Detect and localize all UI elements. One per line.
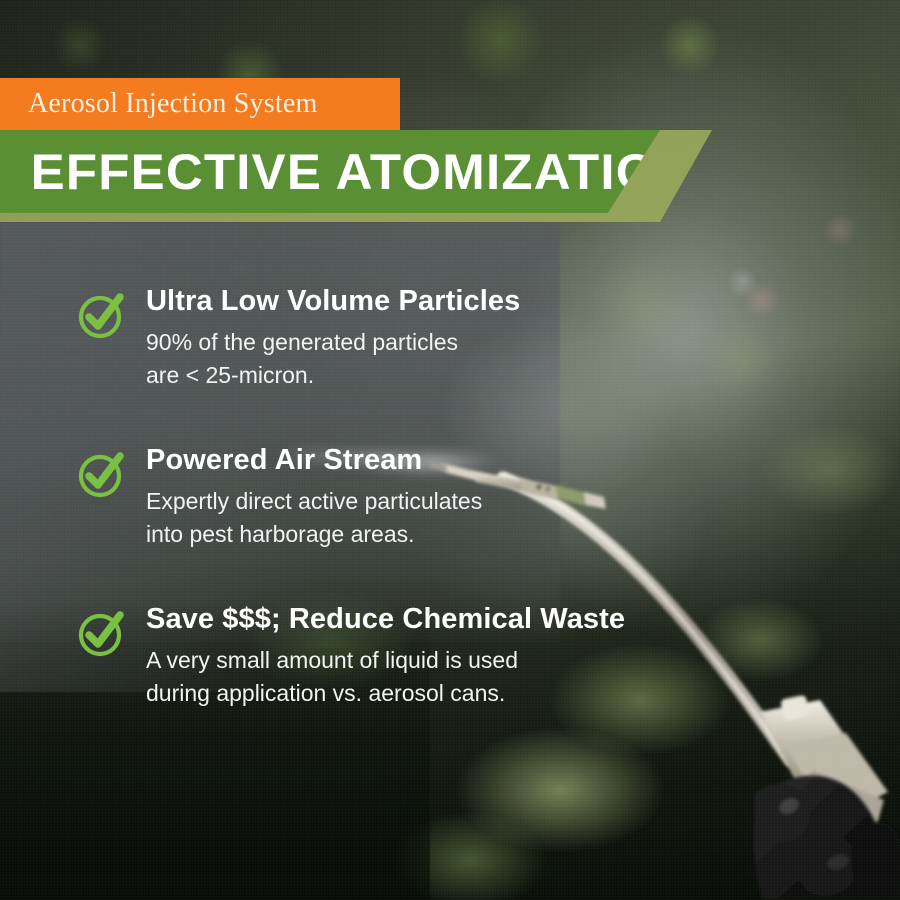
feature-body: A very small amount of liquid is used du… xyxy=(146,644,625,709)
feature-text-block: Powered Air Stream Expertly direct activ… xyxy=(146,444,482,551)
feature-item: Powered Air Stream Expertly direct activ… xyxy=(0,444,760,551)
kicker-text: Aerosol Injection System xyxy=(0,88,317,120)
feature-title: Powered Air Stream xyxy=(146,444,482,476)
feature-body-line: are < 25-micron. xyxy=(146,359,520,392)
headline-banner: EFFECTIVE ATOMIZATION xyxy=(0,130,760,225)
headline-text: EFFECTIVE ATOMIZATION xyxy=(0,143,695,201)
feature-body: Expertly direct active particulates into… xyxy=(146,485,482,550)
feature-text-block: Ultra Low Volume Particles 90% of the ge… xyxy=(146,285,520,392)
feature-text-block: Save $$$; Reduce Chemical Waste A very s… xyxy=(146,603,625,710)
feature-body-line: during application vs. aerosol cans. xyxy=(146,677,625,710)
feature-body-line: into pest harborage areas. xyxy=(146,518,482,551)
kicker-banner: Aerosol Injection System xyxy=(0,78,400,130)
feature-list: Ultra Low Volume Particles 90% of the ge… xyxy=(0,285,760,761)
check-circle-icon xyxy=(76,450,126,500)
check-circle-icon xyxy=(76,609,126,659)
feature-body-line: 90% of the generated particles xyxy=(146,326,520,359)
feature-title: Ultra Low Volume Particles xyxy=(146,285,520,317)
feature-body-line: A very small amount of liquid is used xyxy=(146,644,625,677)
feature-body: 90% of the generated particles are < 25-… xyxy=(146,326,520,391)
headline-banner-body: EFFECTIVE ATOMIZATION xyxy=(0,130,706,213)
feature-body-line: Expertly direct active particulates xyxy=(146,485,482,518)
infographic-canvas: Aerosol Injection System EFFECTIVE ATOMI… xyxy=(0,0,900,900)
feature-item: Ultra Low Volume Particles 90% of the ge… xyxy=(0,285,760,392)
feature-item: Save $$$; Reduce Chemical Waste A very s… xyxy=(0,603,760,710)
check-circle-icon xyxy=(76,291,126,341)
feature-title: Save $$$; Reduce Chemical Waste xyxy=(146,603,625,635)
